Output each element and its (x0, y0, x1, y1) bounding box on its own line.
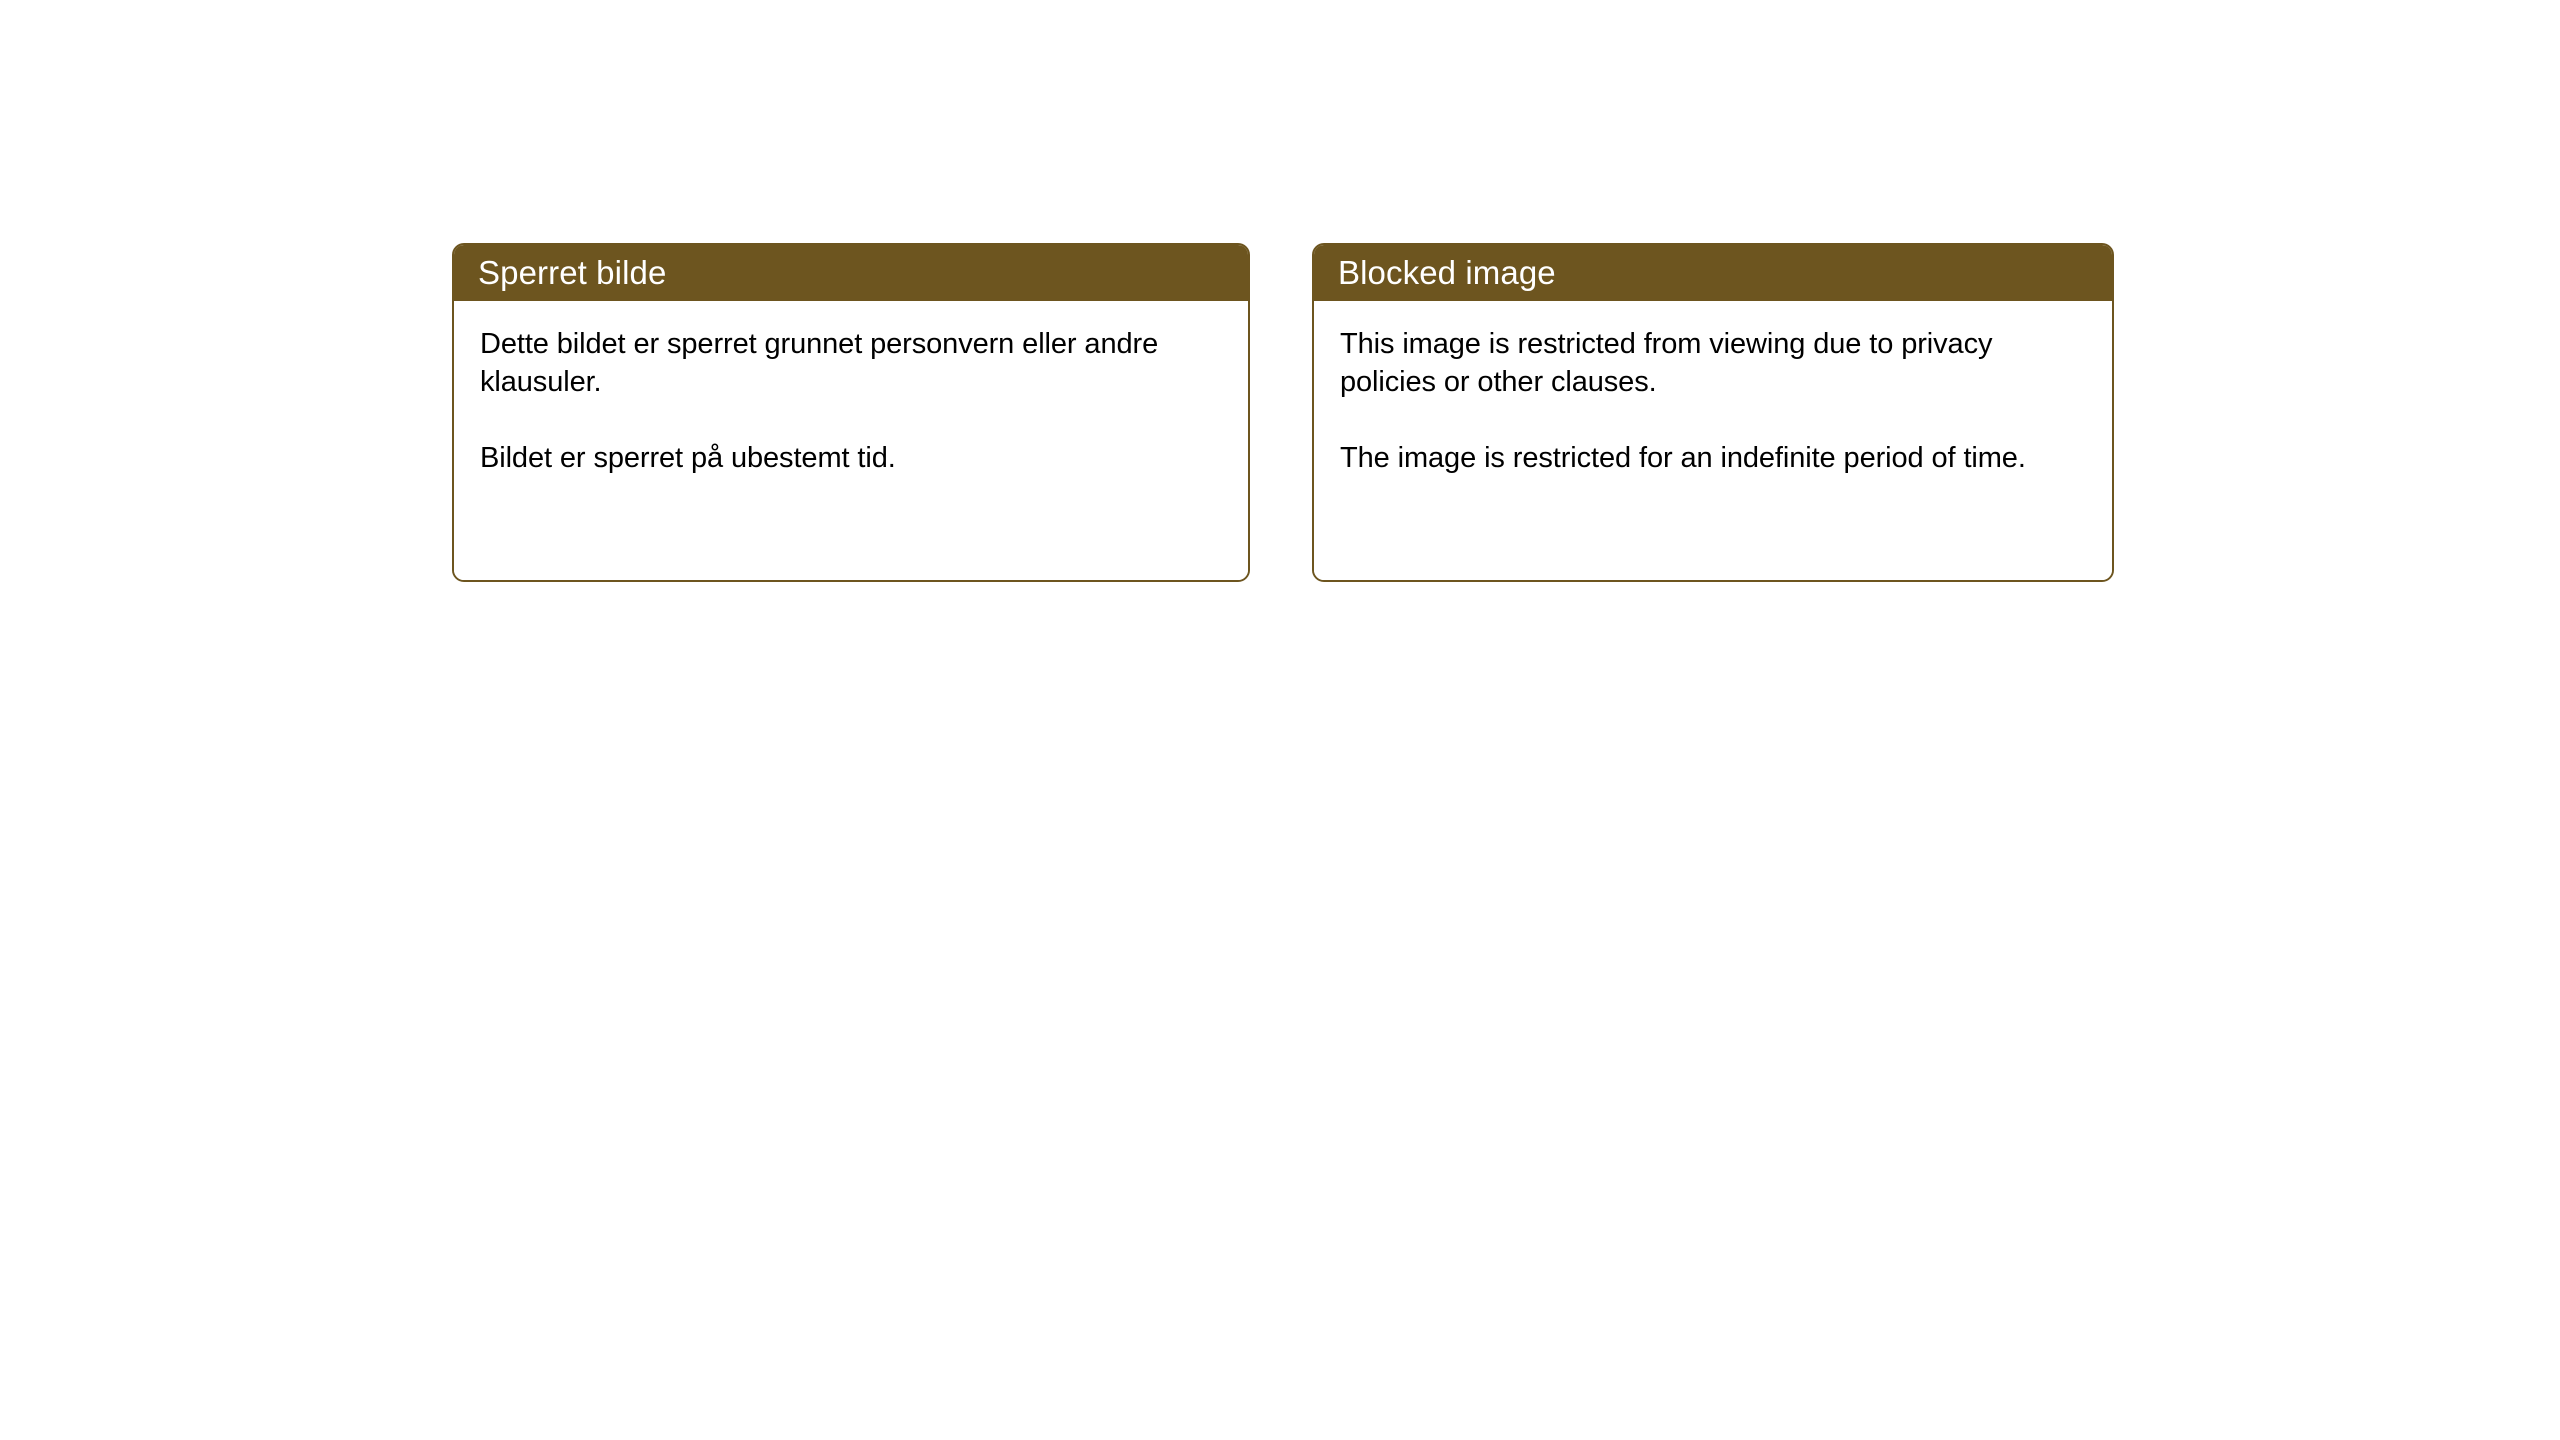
blocked-image-notices: Sperret bilde Dette bildet er sperret gr… (452, 243, 2114, 582)
card-paragraph-en-2: The image is restricted for an indefinit… (1340, 439, 2086, 477)
blocked-image-card-no: Sperret bilde Dette bildet er sperret gr… (452, 243, 1250, 582)
card-paragraph-no-1: Dette bildet er sperret grunnet personve… (480, 325, 1222, 401)
page-root: Sperret bilde Dette bildet er sperret gr… (0, 0, 2560, 1440)
blocked-image-card-en: Blocked image This image is restricted f… (1312, 243, 2114, 582)
card-header-en: Blocked image (1314, 245, 2112, 301)
card-title-no: Sperret bilde (478, 255, 666, 291)
card-body-no: Dette bildet er sperret grunnet personve… (454, 301, 1248, 580)
card-title-en: Blocked image (1338, 255, 1556, 291)
card-paragraph-en-1: This image is restricted from viewing du… (1340, 325, 2086, 401)
card-body-en: This image is restricted from viewing du… (1314, 301, 2112, 580)
card-paragraph-no-2: Bildet er sperret på ubestemt tid. (480, 439, 1222, 477)
card-header-no: Sperret bilde (454, 245, 1248, 301)
